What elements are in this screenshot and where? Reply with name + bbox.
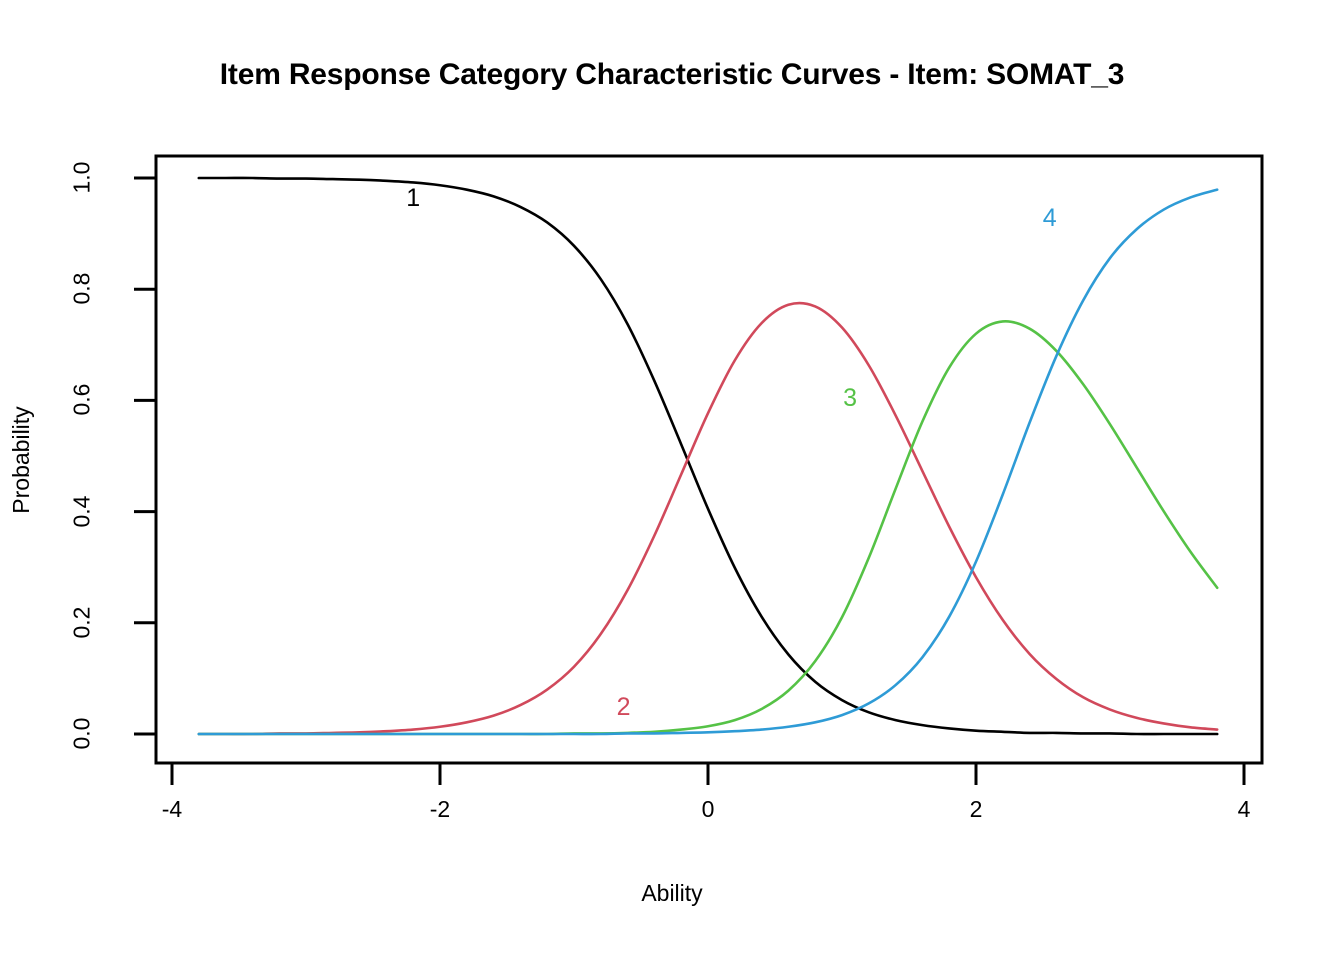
y-tick-label: 1.0 [69,138,96,218]
x-tick-label: 2 [946,796,1006,823]
plot-box [156,156,1262,763]
curve-label-2: 2 [604,693,644,722]
curve-category-1 [199,178,1217,734]
x-axis-ticks [172,763,1244,785]
y-axis-title: Probability [8,360,35,560]
curve-group [199,178,1217,734]
curve-label-1: 1 [393,184,433,213]
curve-category-4 [199,190,1217,734]
y-tick-label: 0.8 [69,249,96,329]
curve-category-3 [199,321,1217,734]
x-tick-label: -2 [410,796,470,823]
x-axis-title: Ability [0,880,1344,907]
x-tick-label: 4 [1214,796,1274,823]
chart-figure: Item Response Category Characteristic Cu… [0,0,1344,960]
y-axis-ticks [134,178,156,734]
x-tick-label: -4 [142,796,202,823]
y-tick-label: 0.4 [69,471,96,551]
curve-category-2 [199,303,1217,734]
y-tick-label: 0.6 [69,360,96,440]
plot-frame [156,156,1262,763]
curve-label-4: 4 [1030,204,1070,233]
curve-label-3: 3 [830,384,870,413]
x-tick-label: 0 [678,796,738,823]
y-tick-label: 0.0 [69,694,96,774]
y-tick-label: 0.2 [69,582,96,662]
